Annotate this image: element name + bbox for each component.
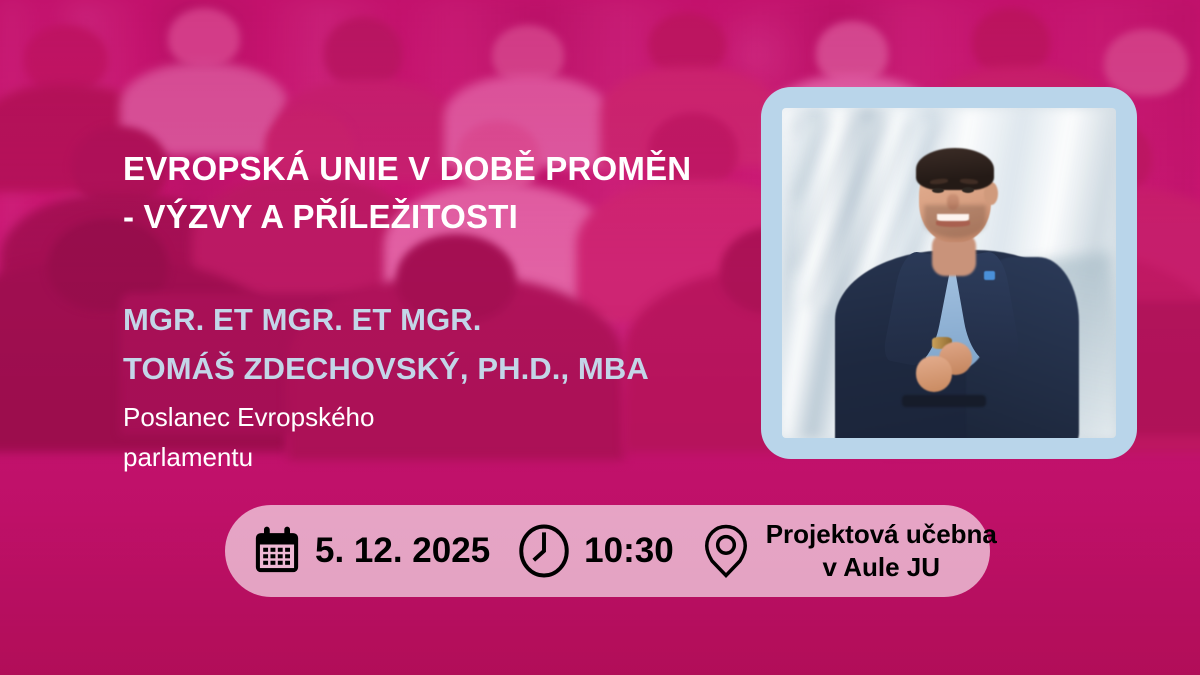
title-line-1: EVROPSKÁ UNIE V DOBĚ PROMĚN [123, 150, 691, 187]
speaker-name-line-2: TOMÁŠ ZDECHOVSKÝ, PH.D., MBA [123, 345, 763, 394]
title-line-2: - VÝZVY A PŘÍLEŽITOSTI [123, 193, 763, 241]
clock-icon [516, 523, 572, 579]
event-date: 5. 12. 2025 [315, 531, 490, 571]
venue-line-1: Projektová učebna [766, 519, 997, 549]
time-group: 10:30 [516, 523, 674, 579]
speaker-name: MGR. ET MGR. ET MGR. TOMÁŠ ZDECHOVSKÝ, P… [123, 296, 763, 394]
calendar-icon [251, 525, 303, 577]
venue-group: Projektová učebna v Aule JU [700, 518, 997, 585]
location-pin-icon [700, 523, 752, 579]
speaker-role-line-2: parlamentu [123, 438, 543, 478]
portrait-frame [761, 87, 1137, 459]
page-title: EVROPSKÁ UNIE V DOBĚ PROMĚN - VÝZVY A PŘ… [123, 145, 763, 241]
event-poster: EVROPSKÁ UNIE V DOBĚ PROMĚN - VÝZVY A PŘ… [0, 0, 1200, 675]
event-time: 10:30 [584, 531, 674, 571]
event-venue: Projektová učebna v Aule JU [766, 518, 997, 585]
venue-line-2: v Aule JU [766, 551, 997, 584]
speaker-portrait [782, 108, 1116, 438]
speaker-name-line-1: MGR. ET MGR. ET MGR. [123, 302, 482, 337]
speaker-role: Poslanec Evropského parlamentu [123, 398, 543, 477]
event-info-bar: 5. 12. 2025 10:30 Projektová učebna v A [225, 505, 990, 597]
lapel-pin-icon [984, 271, 995, 280]
speaker-role-line-1: Poslanec Evropského [123, 402, 374, 432]
portrait-figure [782, 108, 1116, 438]
date-group: 5. 12. 2025 [251, 525, 490, 577]
